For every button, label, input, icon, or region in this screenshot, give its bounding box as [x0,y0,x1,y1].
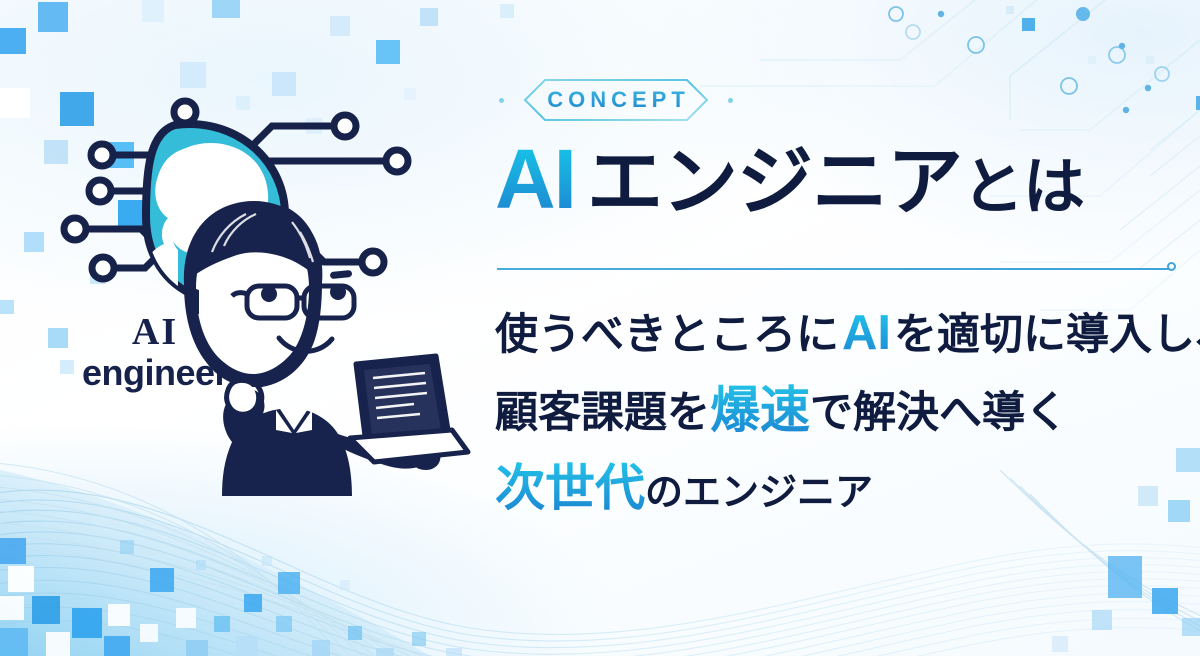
lede-line-3: 次世代のエンジニア [495,451,1200,531]
title-accent-ai: AI [495,132,587,226]
concept-label: CONCEPT [542,87,690,113]
illustration-group: AI engineer [0,0,480,520]
hero-banner: AI engineer CONCEPT AIエン [0,0,1200,656]
laptop-icon [350,356,468,462]
divider-line [497,268,1173,270]
content-column: CONCEPT AIエンジニアとは 使うべきところにAIを適切に導入し、 顧客課… [495,0,1195,656]
title-main: エンジニア [587,140,962,225]
badge-dot-left-icon [499,98,504,103]
lede-2-highlight: 爆速 [710,382,810,438]
mosaic-bottom-left [0,538,462,656]
lede-1-pre: 使うべきところに [495,311,839,359]
lede-line-2: 顧客課題を爆速で解決へ導く [495,373,1200,451]
lede-3-highlight: 次世代 [495,460,645,516]
caption-line-engineer: engineer [60,352,250,394]
divider-end-circle-icon [1167,262,1176,271]
page-title: AIエンジニアとは [495,134,1084,225]
badge-dot-right-icon [728,98,733,103]
ai-engineer-illustration [0,0,480,520]
illustration-caption: AI engineer [60,312,250,394]
title-suffix: とは [962,153,1084,222]
lede-1-post: を適切に導入し、 [894,311,1200,359]
lede-2-post: で解決へ導く [810,389,1068,437]
lede-3-post: のエンジニア [645,472,873,514]
caption-line-ai: AI [60,312,250,352]
lede-line-1: 使うべきところにAIを適切に導入し、 [495,296,1200,373]
lede-copy: 使うべきところにAIを適切に導入し、 顧客課題を爆速で解決へ導く 次世代のエンジ… [495,296,1200,531]
lede-1-highlight: AI [839,306,894,360]
lede-2-pre: 顧客課題を [495,389,710,437]
concept-badge: CONCEPT [497,78,735,122]
